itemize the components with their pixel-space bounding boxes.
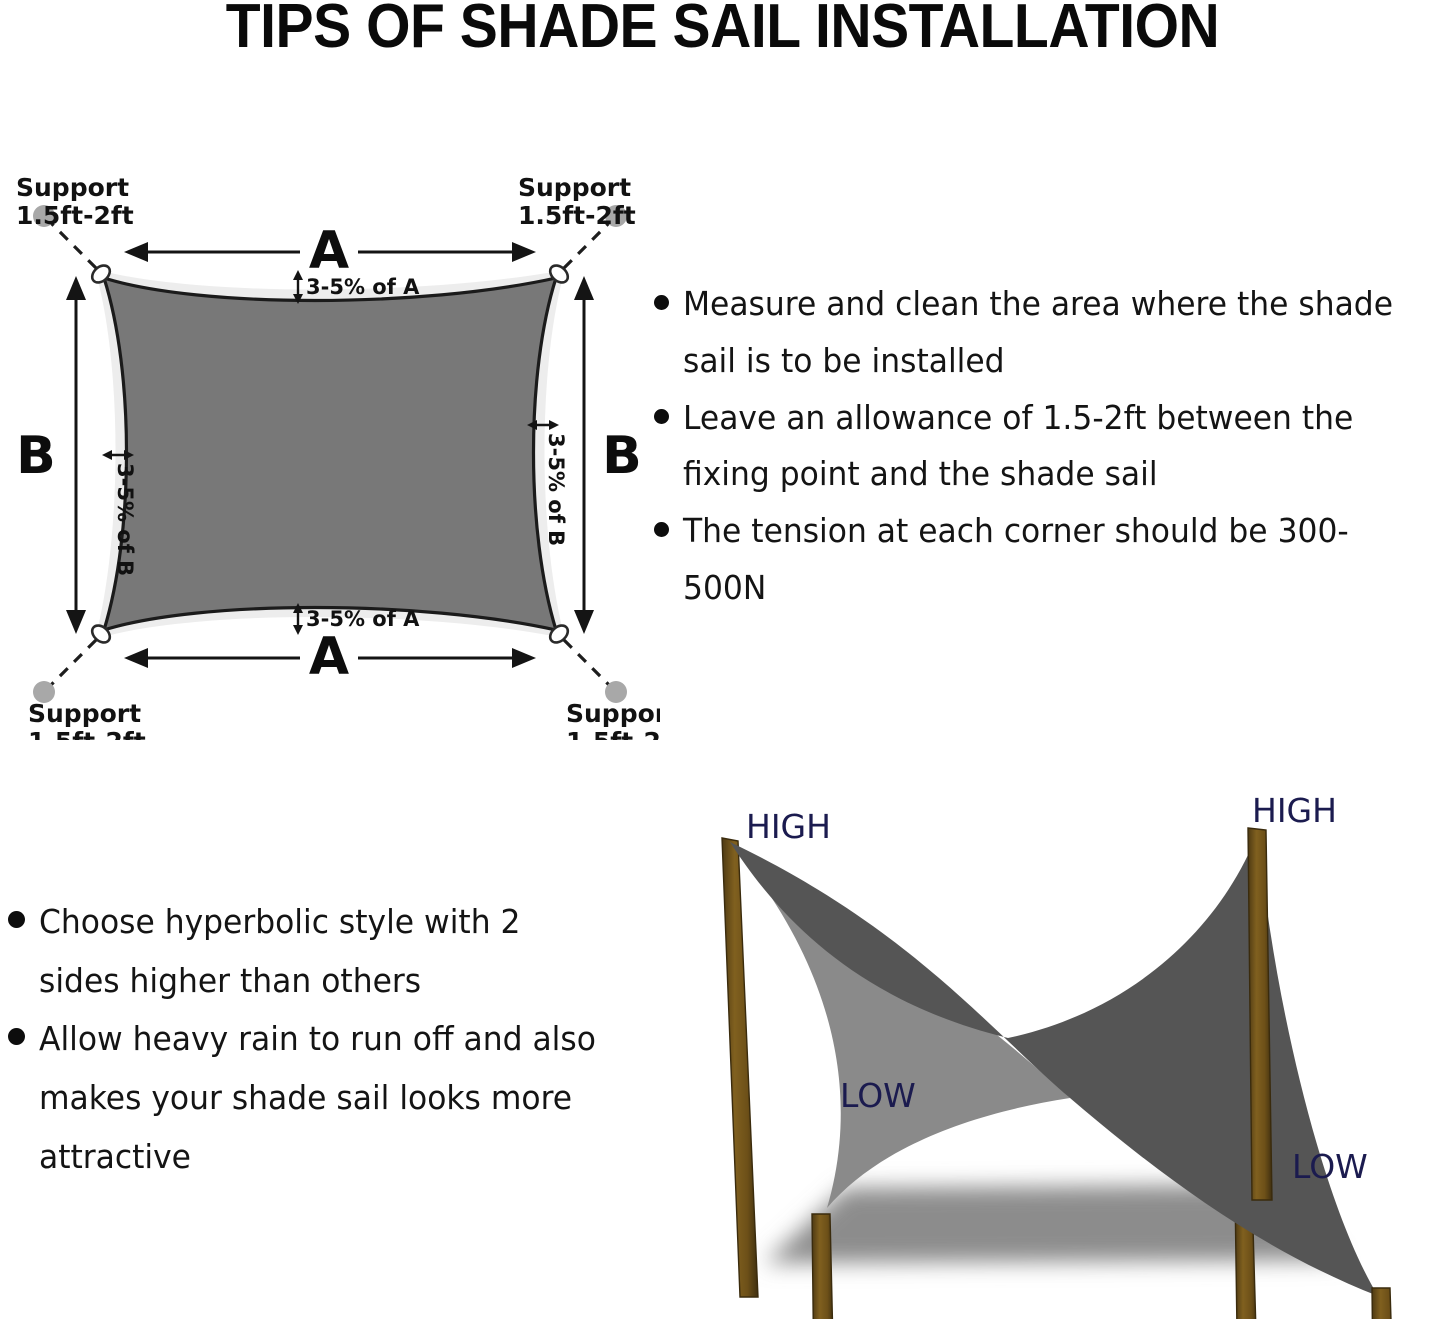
list-item-text: Measure and clean the area where the sha…: [683, 276, 1415, 390]
support-label-bottom-left-line1: Support: [28, 699, 141, 728]
support-line-bottom-left: [48, 640, 96, 688]
bullet-dot-icon: [8, 1028, 25, 1045]
sag-note-bottom: 3-5% of A: [306, 607, 420, 631]
post-low-right: [1372, 1288, 1396, 1319]
support-label-bottom-right-line1: Support: [566, 699, 660, 728]
list-item-text: Allow heavy rain to run off and also mak…: [39, 1010, 599, 1186]
label-low-left: LOW: [840, 1076, 916, 1115]
hypar-sail-diagram: HIGH HIGH LOW LOW: [660, 780, 1445, 1319]
list-item-text: Choose hyperbolic style with 2 sides hig…: [39, 893, 599, 1010]
dimension-a-top-label: A: [309, 221, 349, 281]
bullet-dot-icon: [654, 409, 669, 424]
bullet-dot-icon: [654, 522, 669, 537]
post-high-right: [1248, 828, 1272, 1200]
label-high-right: HIGH: [1252, 791, 1337, 830]
dimension-b-left-label: B: [16, 426, 56, 486]
sag-marker-left: 3-5% of B: [102, 450, 137, 576]
infographic-page: TIPS OF SHADE SAIL INSTALLATION Sup: [0, 0, 1445, 1319]
sag-note-top: 3-5% of A: [306, 275, 420, 299]
support-label-bottom-left-line2: 1.5ft-2ft: [28, 727, 146, 740]
dimension-a-top: A: [124, 221, 536, 281]
post-low-left: [812, 1214, 834, 1319]
sag-note-right: 3-5% of B: [544, 433, 568, 546]
list-item: The tension at each corner should be 300…: [654, 503, 1445, 617]
tips-list-left: Choose hyperbolic style with 2 sides hig…: [8, 893, 628, 1187]
dimension-a-bottom: A: [124, 627, 536, 687]
dimension-b-right: B: [574, 276, 642, 634]
sag-note-left: 3-5% of B: [113, 463, 137, 576]
dimension-b-right-label: B: [602, 426, 642, 486]
page-title: TIPS OF SHADE SAIL INSTALLATION: [58, 0, 1387, 59]
support-label-top-left-line1: Support: [16, 173, 129, 202]
support-label-bottom-right-line2: 1.5ft-2ft: [566, 727, 660, 740]
sag-marker-top: 3-5% of A: [293, 270, 420, 304]
shade-sail-body: [104, 278, 556, 630]
list-item-text: The tension at each corner should be 300…: [683, 503, 1415, 617]
support-label-top-left-line2: 1.5ft-2ft: [16, 201, 134, 230]
bullet-dot-icon: [654, 295, 669, 310]
bullet-dot-icon: [8, 911, 25, 928]
sag-marker-bottom: 3-5% of A: [293, 603, 420, 635]
list-item-text: Leave an allowance of 1.5-2ft between th…: [683, 390, 1415, 504]
label-low-right: LOW: [1292, 1147, 1368, 1186]
list-item: Allow heavy rain to run off and also mak…: [8, 1010, 628, 1186]
post-high-left: [722, 838, 758, 1297]
label-high-left: HIGH: [746, 807, 831, 846]
support-label-top-right-line1: Support: [518, 173, 631, 202]
tips-list-right: Measure and clean the area where the sha…: [654, 276, 1445, 617]
list-item: Choose hyperbolic style with 2 sides hig…: [8, 893, 628, 1010]
rect-sail-diagram: Support 1.5ft-2ft Support 1.5ft-2ft Supp…: [0, 160, 660, 740]
support-label-top-right-line2: 1.5ft-2ft: [518, 201, 636, 230]
list-item: Measure and clean the area where the sha…: [654, 276, 1445, 390]
dimension-a-bottom-label: A: [309, 627, 349, 687]
dimension-b-left: B: [16, 276, 86, 634]
support-line-bottom-right: [564, 640, 612, 688]
list-item: Leave an allowance of 1.5-2ft between th…: [654, 390, 1445, 504]
